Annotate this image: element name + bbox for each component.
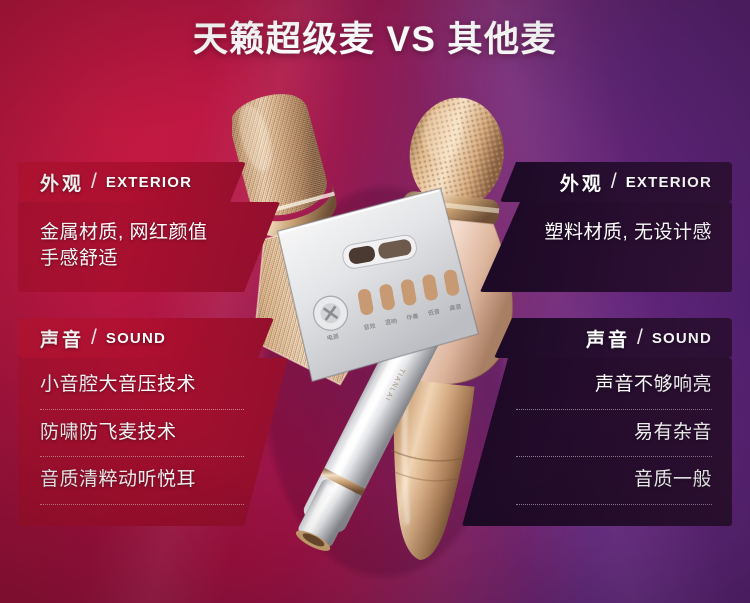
page-title: 天籁超级麦 VS 其他麦 — [0, 18, 750, 62]
panel-line: 声音不够响亮 — [482, 372, 712, 398]
panel-header-cn: 外观 — [560, 169, 604, 196]
panel-exterior-right: 外观 / EXTERIOR 塑料材质, 无设计感 — [480, 162, 732, 292]
comparison-poster: TIANLAI 电源 音效 — [0, 0, 750, 603]
panel-header-exterior-right: 外观 / EXTERIOR — [500, 162, 732, 202]
panel-line: 易有杂音 — [482, 420, 712, 446]
panel-header-exterior-left: 外观 / EXTERIOR — [18, 162, 246, 202]
panel-header-en: EXTERIOR — [626, 174, 712, 191]
panel-line: 音质清粹动听悦耳 — [40, 467, 266, 493]
panel-sound-right: 声音 / SOUND 声音不够响亮 易有杂音 音质一般 — [462, 318, 732, 526]
panel-header-en: EXTERIOR — [106, 174, 192, 191]
list-separator — [40, 409, 244, 410]
panel-sound-left: 声音 / SOUND 小音腔大音压技术 防啸防飞麦技术 音质清粹动听悦耳 — [18, 318, 288, 526]
panel-line: 音质一般 — [482, 467, 712, 493]
panel-header-slash: / — [91, 326, 97, 350]
panel-body-sound-left: 小音腔大音压技术 防啸防飞麦技术 音质清粹动听悦耳 — [18, 358, 288, 526]
panel-header-slash: / — [611, 170, 617, 194]
list-separator — [516, 504, 712, 505]
panel-header-cn: 声音 — [40, 325, 84, 352]
panel-header-cn: 声音 — [586, 325, 630, 352]
list-separator — [40, 504, 244, 505]
list-separator — [40, 456, 244, 457]
panel-line: 金属材质, 网红颜值 — [40, 220, 258, 246]
panel-header-slash: / — [91, 170, 97, 194]
panel-header-slash: / — [637, 326, 643, 350]
panel-line: 手感舒适 — [40, 246, 258, 272]
panel-line: 小音腔大音压技术 — [40, 372, 266, 398]
panel-line: 防啸防飞麦技术 — [40, 420, 266, 446]
list-separator — [516, 456, 712, 457]
panel-body-exterior-left: 金属材质, 网红颜值 手感舒适 — [18, 202, 280, 292]
panel-header-en: SOUND — [106, 330, 166, 347]
panel-header-sound-right: 声音 / SOUND — [494, 318, 732, 358]
list-separator — [516, 409, 712, 410]
panel-body-exterior-right: 塑料材质, 无设计感 — [480, 202, 732, 292]
panel-line: 塑料材质, 无设计感 — [500, 220, 712, 246]
panel-header-en: SOUND — [652, 330, 712, 347]
panel-body-sound-right: 声音不够响亮 易有杂音 音质一般 — [462, 358, 732, 526]
panel-header-sound-left: 声音 / SOUND — [18, 318, 274, 358]
panel-exterior-left: 外观 / EXTERIOR 金属材质, 网红颜值 手感舒适 — [18, 162, 280, 292]
panel-header-cn: 外观 — [40, 169, 84, 196]
